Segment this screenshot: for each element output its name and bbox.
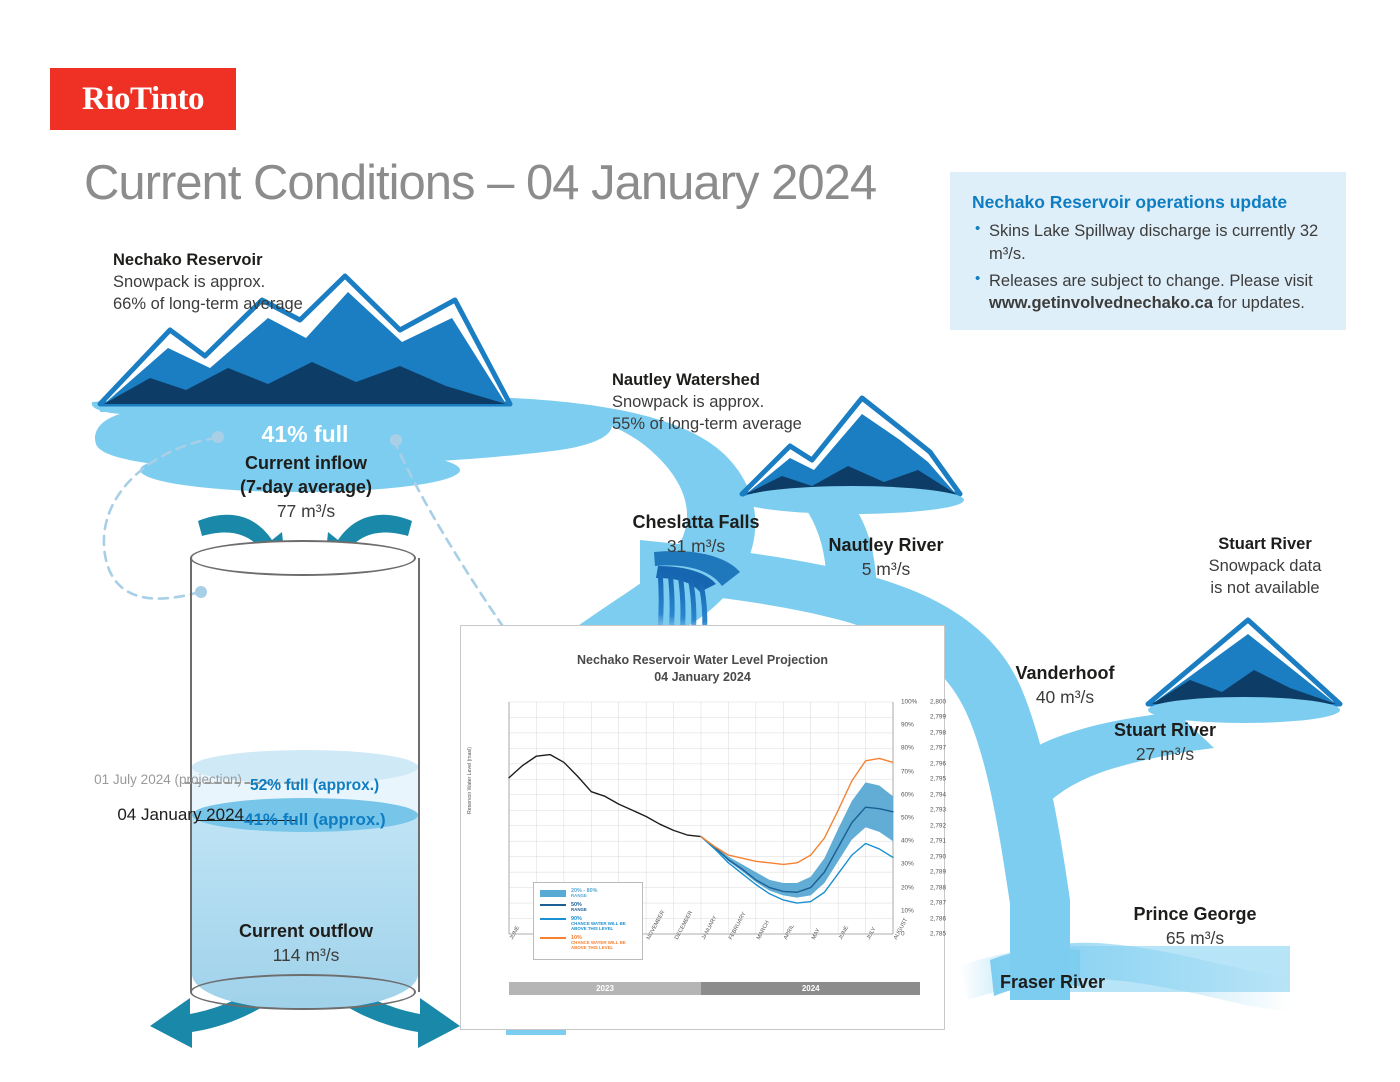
flow-point-value: 31 m³/s xyxy=(667,536,725,556)
legend-sublabel: RANGE xyxy=(571,908,587,913)
bullet-icon: • xyxy=(975,269,980,290)
legend-swatch xyxy=(540,937,566,939)
current-level-label: 04 January 2024 xyxy=(54,805,244,825)
label-cheslatta-falls: Cheslatta Falls 31 m³/s xyxy=(628,511,764,559)
bullet-icon: • xyxy=(975,219,980,240)
outflow-title: Current outflow xyxy=(215,920,397,944)
projection-percent: 52% full (approx.) xyxy=(250,777,379,795)
watershed-line2: is not available xyxy=(1210,579,1319,597)
legend-swatch xyxy=(540,904,566,906)
current-percent: 41% full (approx.) xyxy=(244,810,386,830)
cylinder-bottom xyxy=(190,974,416,1010)
chart-title: Nechako Reservoir Water Level Projection xyxy=(461,652,944,669)
chart-legend: 20% - 80% RANGE50% RANGE90%CHANCE WATER … xyxy=(533,882,643,960)
watershed-line1: Snowpack is approx. xyxy=(113,273,265,291)
legend-item: 50% RANGE xyxy=(540,902,636,913)
label-nautley-watershed-snowpack: Nautley Watershed Snowpack is approx. 55… xyxy=(612,370,862,435)
inflow-subtitle: (7-day average) xyxy=(236,476,376,500)
cylinder-top xyxy=(190,540,416,576)
operations-update-box: Nechako Reservoir operations update •Ski… xyxy=(950,172,1346,330)
current-inflow-callout: Current inflow (7-day average) 77 m³/s xyxy=(236,452,376,523)
watershed-line2: 66% of long-term average xyxy=(113,295,303,313)
legend-item: 10%CHANCE WATER WILL BE ABOVE THIS LEVEL xyxy=(540,935,636,951)
watershed-line1: Snowpack is approx. xyxy=(612,393,764,411)
flow-point-value: 5 m³/s xyxy=(862,559,911,579)
current-outflow-callout: Current outflow 114 m³/s xyxy=(215,920,397,968)
page-title: Current Conditions – 04 January 2024 xyxy=(84,155,876,211)
legend-sublabel: CHANCE WATER WILL BE ABOVE THIS LEVEL xyxy=(571,941,636,951)
ops-bullet-text: Releases are subject to change. Please v… xyxy=(989,272,1313,290)
watershed-name: Nautley Watershed xyxy=(612,370,862,392)
legend-item: 90%CHANCE WATER WILL BE ABOVE THIS LEVEL xyxy=(540,916,636,932)
list-item: •Skins Lake Spillway discharge is curren… xyxy=(972,220,1324,266)
chart-title-block: Nechako Reservoir Water Level Projection… xyxy=(461,652,944,686)
label-nautley-river: Nautley River 5 m³/s xyxy=(816,534,956,582)
chart-plot-area: Reservoir Water Level (masl) 2,8002,7992… xyxy=(461,694,946,994)
flow-point-name: Cheslatta Falls xyxy=(628,511,764,535)
legend-label: 10%CHANCE WATER WILL BE ABOVE THIS LEVEL xyxy=(571,935,636,951)
label-fraser-river: Fraser River xyxy=(1000,971,1130,995)
legend-sublabel: RANGE xyxy=(571,894,597,899)
ops-bullet-text: Skins Lake Spillway discharge is current… xyxy=(989,222,1318,263)
projection-date: 01 July 2024 (projection) xyxy=(94,772,242,787)
legend-label: 90%CHANCE WATER WILL BE ABOVE THIS LEVEL xyxy=(571,916,636,932)
flow-point-name: Nautley River xyxy=(816,534,956,558)
label-vanderhoof: Vanderhoof 40 m³/s xyxy=(1000,662,1130,710)
flow-point-value: 40 m³/s xyxy=(1036,687,1094,707)
outflow-value: 114 m³/s xyxy=(273,945,340,965)
label-stuart-river-snowpack: Stuart River Snowpack data is not availa… xyxy=(1185,534,1345,599)
watershed-line1: Snowpack data xyxy=(1209,557,1322,575)
ops-bullet-text-after: for updates. xyxy=(1213,294,1305,312)
label-nechako-reservoir-snowpack: Nechako Reservoir Snowpack is approx. 66… xyxy=(113,250,363,315)
percent-full-callout: 41% full xyxy=(255,421,355,448)
watershed-name: Stuart River xyxy=(1185,534,1345,556)
watershed-name: Nechako Reservoir xyxy=(113,250,363,272)
ops-bullet-list: •Skins Lake Spillway discharge is curren… xyxy=(972,220,1324,315)
inflow-value: 77 m³/s xyxy=(277,501,335,521)
watershed-line2: 55% of long-term average xyxy=(612,415,802,433)
legend-item: 20% - 80% RANGE xyxy=(540,888,636,899)
projection-level-label: 01 July 2024 (projection) xyxy=(44,771,242,789)
list-item: •Releases are subject to change. Please … xyxy=(972,270,1324,316)
inflow-title: Current inflow xyxy=(236,452,376,476)
flow-point-name: Vanderhoof xyxy=(1000,662,1130,686)
water-level-projection-chart: Nechako Reservoir Water Level Projection… xyxy=(460,625,945,1030)
ops-title: Nechako Reservoir operations update xyxy=(972,192,1324,213)
flow-point-name: Fraser River xyxy=(1000,971,1130,995)
legend-swatch xyxy=(540,918,566,920)
ops-link-text[interactable]: www.getinvolvednechako.ca xyxy=(989,294,1213,312)
legend-label: 20% - 80% RANGE xyxy=(571,888,597,899)
current-date: 04 January 2024 xyxy=(117,805,244,824)
flow-point-name: Prince George xyxy=(1125,903,1265,927)
logo-text: RioTinto xyxy=(82,81,204,118)
legend-sublabel: CHANCE WATER WILL BE ABOVE THIS LEVEL xyxy=(571,922,636,932)
chart-subtitle: 04 January 2024 xyxy=(461,669,944,686)
legend-swatch xyxy=(540,890,566,897)
label-prince-george: Prince George 65 m³/s xyxy=(1125,903,1265,951)
label-stuart-river-flow: Stuart River 27 m³/s xyxy=(1095,719,1235,767)
flow-point-name: Stuart River xyxy=(1095,719,1235,743)
legend-label: 50% RANGE xyxy=(571,902,587,913)
mountain-stuart xyxy=(1148,620,1340,723)
rio-tinto-logo: RioTinto xyxy=(50,68,236,130)
flow-point-value: 65 m³/s xyxy=(1166,928,1224,948)
flow-point-value: 27 m³/s xyxy=(1136,744,1194,764)
